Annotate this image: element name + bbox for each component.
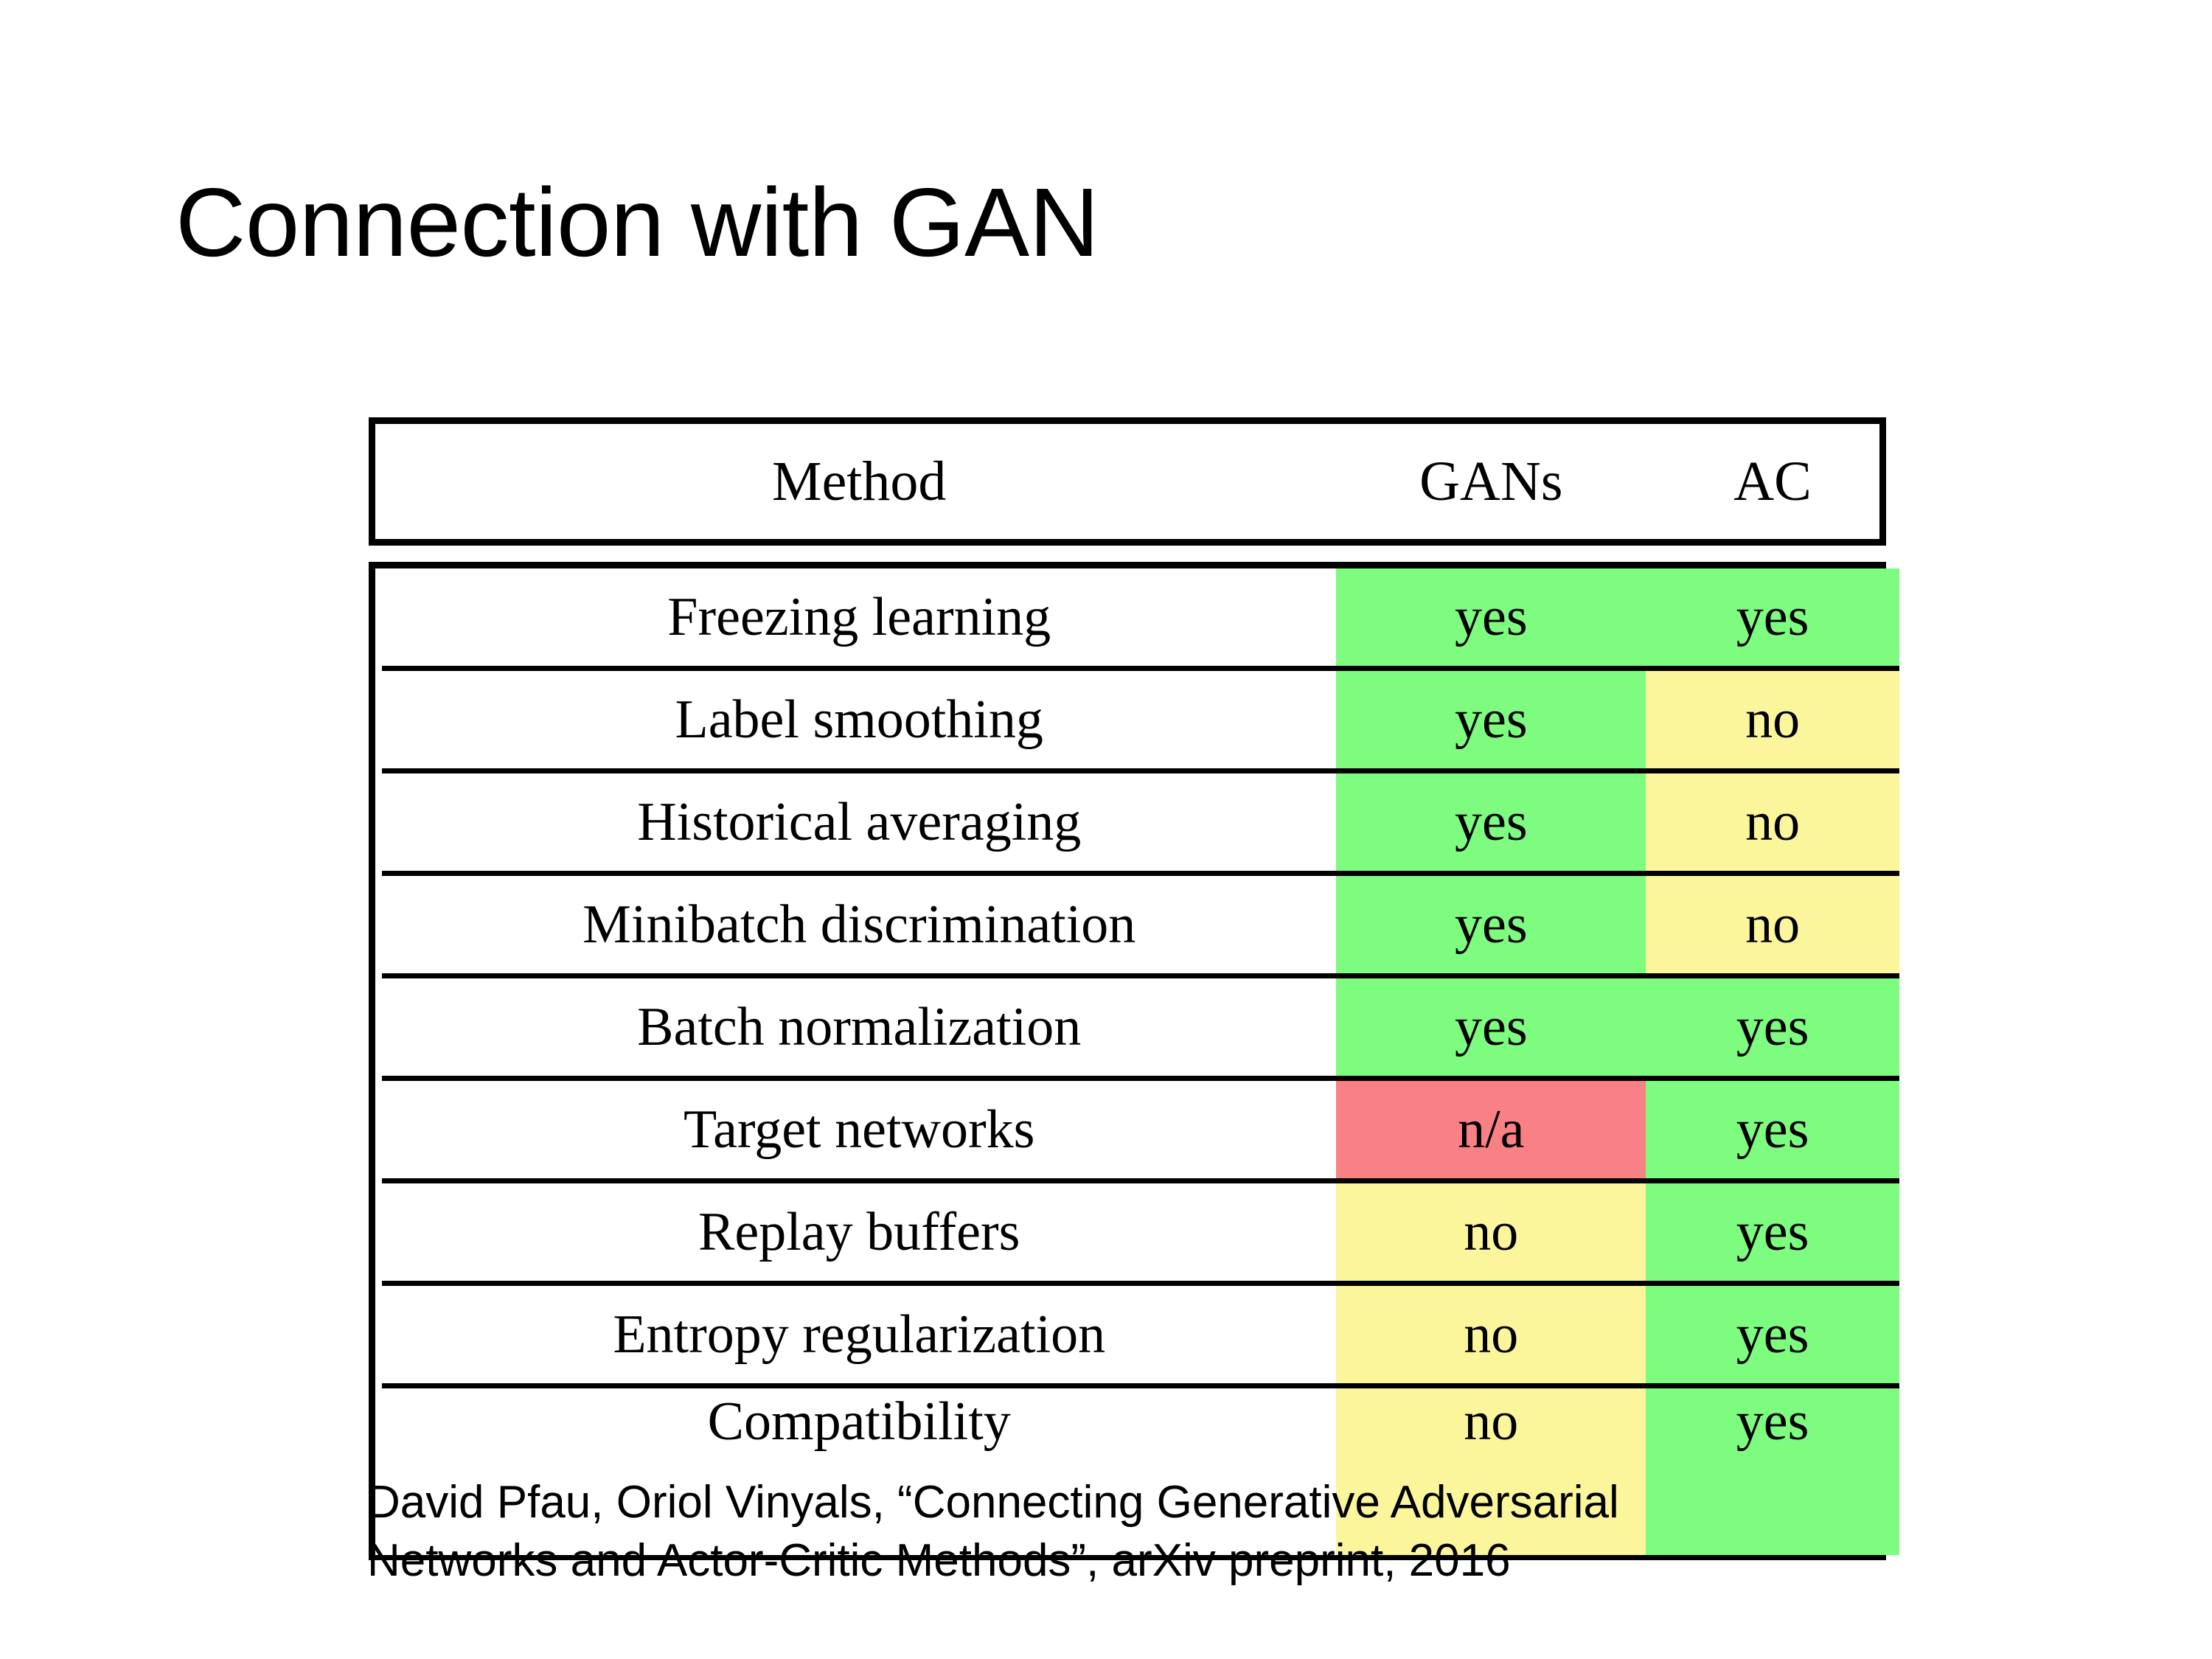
cell-ac: yes	[1646, 568, 1899, 666]
cell-ac: no	[1646, 871, 1899, 973]
table-row: Historical averagingyesno	[382, 768, 1899, 871]
caption-line-1: David Pfau, Oriol Vinyals, “Connecting G…	[367, 1473, 1916, 1531]
table-header-row: Method GANs AC	[382, 424, 1899, 539]
page-title: Connection with GAN	[175, 168, 1099, 277]
table-header-block: Method GANs AC	[369, 417, 1886, 546]
source-caption: David Pfau, Oriol Vinyals, “Connecting G…	[367, 1473, 1916, 1590]
cell-method: Freezing learning	[382, 568, 1336, 666]
cell-method: Target networks	[382, 1076, 1336, 1178]
table-row: Minibatch discriminationyesno	[382, 871, 1899, 973]
cell-gans: no	[1336, 1178, 1646, 1281]
cell-ac: no	[1646, 768, 1899, 871]
table-row: Replay buffersnoyes	[382, 1178, 1899, 1281]
cell-gans: yes	[1336, 768, 1646, 871]
cell-method: Entropy regularization	[382, 1281, 1336, 1383]
caption-line-2: Networks and Actor-Critic Methods”, arXi…	[367, 1531, 1916, 1590]
table-row: Entropy regularizationnoyes	[382, 1281, 1899, 1383]
column-header-method: Method	[382, 424, 1336, 539]
cell-method: Batch normalization	[382, 973, 1336, 1076]
cell-method: Label smoothing	[382, 666, 1336, 768]
table-row: Label smoothingyesno	[382, 666, 1899, 768]
cell-gans: yes	[1336, 871, 1646, 973]
cell-ac: yes	[1646, 973, 1899, 1076]
cell-gans: no	[1336, 1281, 1646, 1383]
cell-ac: yes	[1646, 1178, 1899, 1281]
table-row: Target networksn/ayes	[382, 1076, 1899, 1178]
cell-gans: yes	[1336, 568, 1646, 666]
table-row: Freezing learningyesyes	[382, 568, 1899, 666]
cell-method: Minibatch discrimination	[382, 871, 1336, 973]
comparison-table: Method GANs AC Freezing learningyesyesLa…	[369, 417, 1886, 1560]
column-header-ac: AC	[1646, 424, 1899, 539]
cell-method: Replay buffers	[382, 1178, 1336, 1281]
cell-gans: n/a	[1336, 1076, 1646, 1178]
table-row: Batch normalizationyesyes	[382, 973, 1899, 1076]
table-body-grid: Freezing learningyesyesLabel smoothingye…	[382, 568, 1899, 1555]
cell-ac: yes	[1646, 1076, 1899, 1178]
table-header-grid: Method GANs AC	[382, 424, 1899, 539]
cell-gans: yes	[1336, 666, 1646, 768]
column-header-gans: GANs	[1336, 424, 1646, 539]
cell-ac: yes	[1646, 1281, 1899, 1383]
cell-method: Historical averaging	[382, 768, 1336, 871]
table-body-block: Freezing learningyesyesLabel smoothingye…	[369, 562, 1886, 1560]
cell-gans: yes	[1336, 973, 1646, 1076]
cell-ac: no	[1646, 666, 1899, 768]
